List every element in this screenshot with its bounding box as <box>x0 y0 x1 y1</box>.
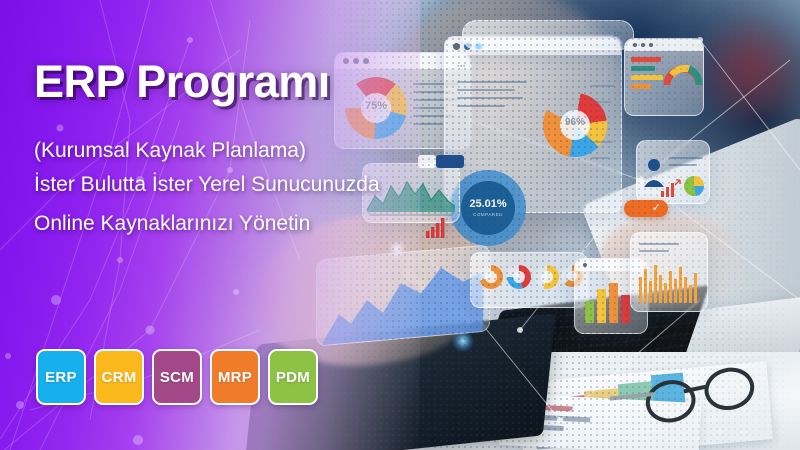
subtitle-line-1: (Kurumsal Kaynak Planlama) <box>34 139 306 163</box>
subtitle-line-3: Online Kaynaklarınızı Yönetin <box>34 212 310 236</box>
module-badge-row: ERP CRM SCM MRP PDM <box>36 349 318 405</box>
page-title: ERP Programı <box>34 56 330 108</box>
badge-scm[interactable]: SCM <box>152 349 202 405</box>
erp-banner: 75% ▪▪▪ 96% ⌕ 25.01% COMPARED <box>0 0 800 450</box>
badge-mrp[interactable]: MRP <box>210 349 260 405</box>
badge-mrp-label: MRP <box>218 369 252 386</box>
badge-pdm[interactable]: PDM <box>268 349 318 405</box>
badge-crm[interactable]: CRM <box>94 349 144 405</box>
subtitle-line-2: İster Bulutta İster Yerel Sunucunuzda <box>34 173 380 197</box>
badge-erp[interactable]: ERP <box>36 349 86 405</box>
badge-erp-label: ERP <box>45 369 77 386</box>
badge-crm-label: CRM <box>101 369 136 386</box>
badge-scm-label: SCM <box>160 369 194 386</box>
badge-pdm-label: PDM <box>276 369 310 386</box>
